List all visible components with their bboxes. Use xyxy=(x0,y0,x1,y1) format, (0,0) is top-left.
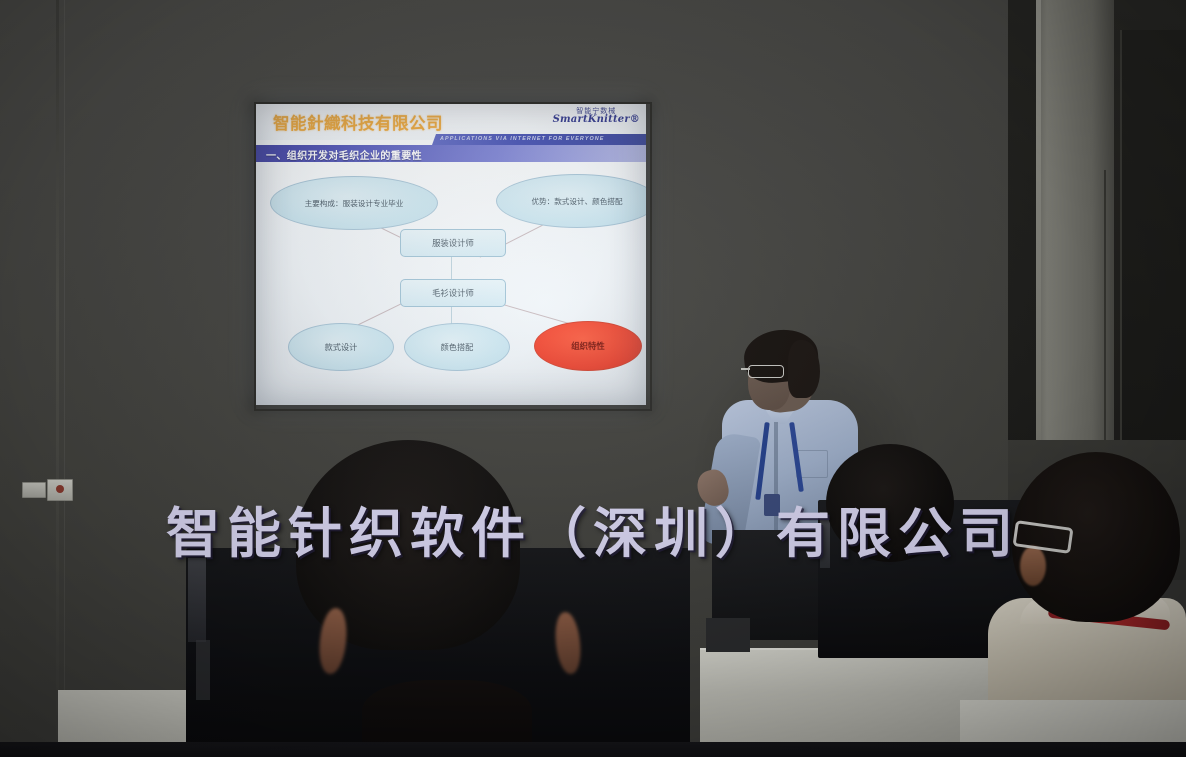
node-label: 毛衫设计师 xyxy=(432,287,474,299)
presenter-badge xyxy=(764,494,780,516)
edge-n3-n4 xyxy=(451,254,452,280)
projection-screen: 智能針織科技有限公司 智能宁数械 SmartKnitter® APPLICATI… xyxy=(256,104,646,405)
slide-banner-text: APPLICATIONS VIA INTERNET FOR EVERYONE xyxy=(440,136,605,142)
smartknitter-logo: 智能宁数械 SmartKnitter® xyxy=(553,108,640,126)
slide-title: 智能針織科技有限公司 xyxy=(273,110,443,134)
pillar-edge xyxy=(1036,0,1041,470)
presenter-glasses xyxy=(748,365,784,378)
diagram-node-advantage: 优势：款式设计、颜色搭配 xyxy=(496,174,646,228)
slide: 智能針織科技有限公司 智能宁数械 SmartKnitter® APPLICATI… xyxy=(256,104,646,405)
pillar xyxy=(1036,0,1114,470)
monitor-front-side-strip xyxy=(188,558,206,642)
monitor-far-base xyxy=(706,618,750,652)
door-frame xyxy=(1120,30,1186,460)
logo-english-text: SmartKnitter® xyxy=(553,115,640,126)
node-label: 组织特性 xyxy=(571,340,605,352)
wall-seam xyxy=(56,0,59,757)
node-label: 款式设计 xyxy=(325,341,358,353)
diagram-node-color-matching: 颜色搭配 xyxy=(404,323,510,371)
photo-scene: 智能針織科技有限公司 智能宁数械 SmartKnitter® APPLICATI… xyxy=(0,0,1186,757)
diagram-node-style-design: 款式设计 xyxy=(288,323,394,371)
presenter-shirt-placket xyxy=(774,422,778,542)
door-edge-line xyxy=(1104,170,1106,460)
diagram-node-sweater-designer: 毛衫设计师 xyxy=(400,279,506,307)
wall-switch-plate xyxy=(22,482,46,498)
diagram-node-main-composition: 主要构成：服装设计专业毕业 xyxy=(270,176,438,230)
wall-seam-highlight xyxy=(64,0,65,757)
audience-head-mid xyxy=(826,444,954,562)
node-label: 服装设计师 xyxy=(432,237,474,249)
audience-ear-right xyxy=(1020,546,1046,586)
diagram-node-fabric-structure: 组织特性 xyxy=(534,321,642,371)
desk-front-edge xyxy=(0,742,1186,757)
node-label: 优势：款式设计、颜色搭配 xyxy=(531,196,622,207)
wall-outlet-plate xyxy=(47,479,73,501)
node-label: 颜色搭配 xyxy=(441,341,474,353)
node-label: 主要构成：服装设计专业毕业 xyxy=(305,198,404,209)
monitor-front-stand xyxy=(196,640,210,700)
slide-section-heading: 一、组织开发对毛织企业的重要性 xyxy=(266,147,422,162)
diagram-node-fashion-designer: 服装设计师 xyxy=(400,229,506,257)
slide-diagram: 主要构成：服装设计专业毕业 优势：款式设计、颜色搭配 服装设计师 毛衫设计师 款… xyxy=(256,162,646,405)
